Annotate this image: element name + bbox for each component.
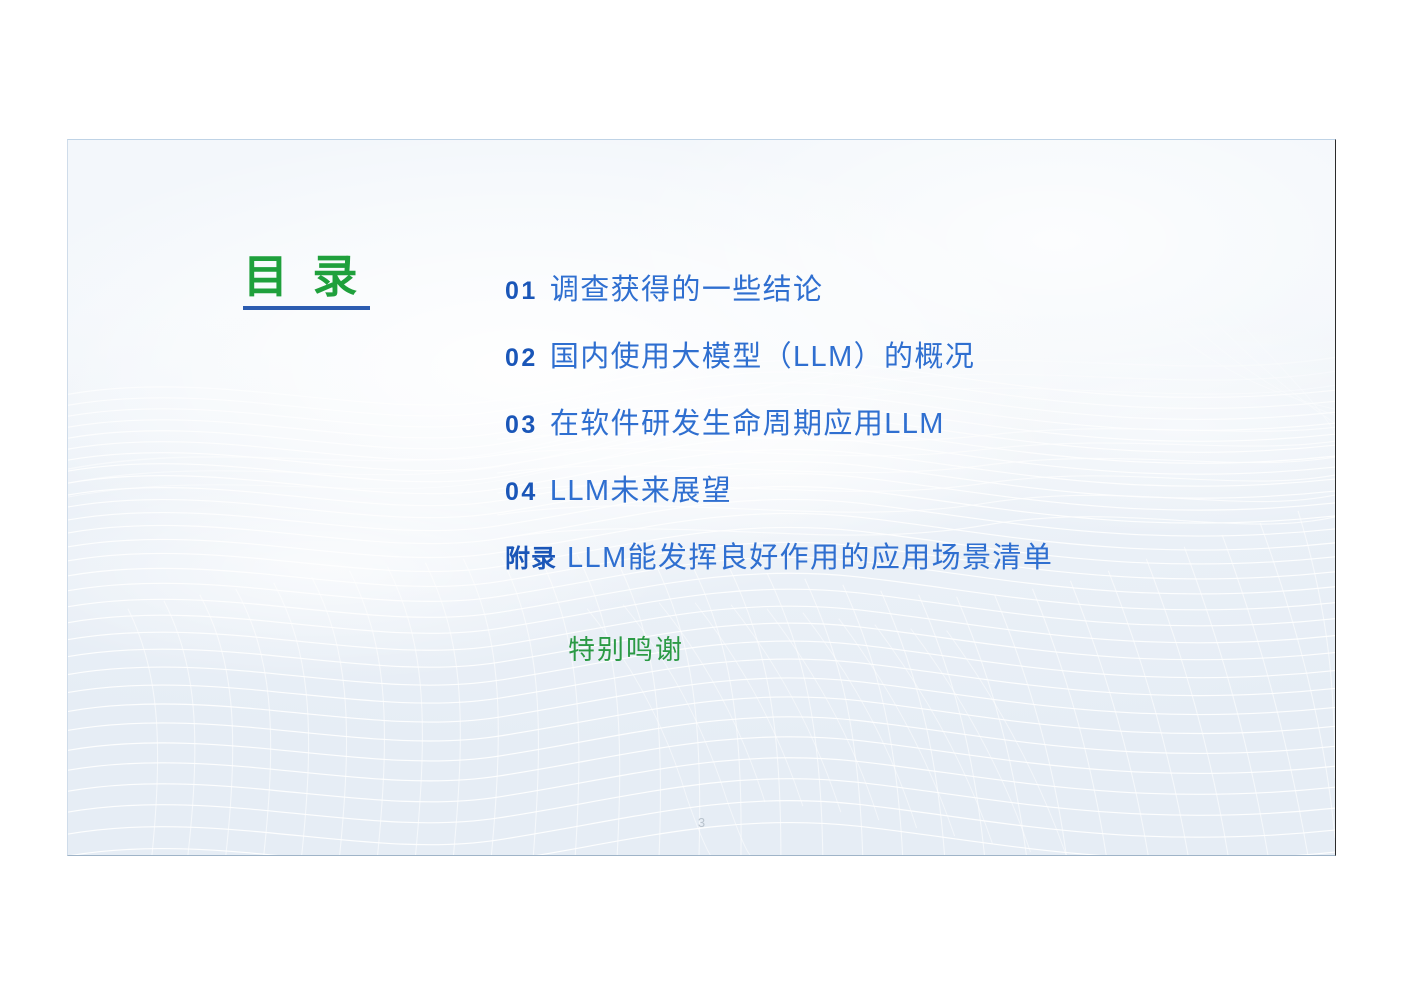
toc-item-label: LLM能发挥良好作用的应用场景清单 [567, 534, 1053, 576]
presentation-slide: 目 录 01 调查获得的一些结论 02 国内使用大模型（LLM）的概况 03 在… [67, 139, 1336, 856]
toc-item-04[interactable]: 04 LLM未来展望 [505, 467, 1265, 534]
toc-list: 01 调查获得的一些结论 02 国内使用大模型（LLM）的概况 03 在软件研发… [505, 266, 1265, 601]
slide-content: 目 录 01 调查获得的一些结论 02 国内使用大模型（LLM）的概况 03 在… [68, 140, 1335, 855]
toc-item-number: 03 [505, 411, 538, 440]
toc-item-label: 国内使用大模型（LLM）的概况 [550, 333, 975, 375]
toc-item-03[interactable]: 03 在软件研发生命周期应用LLM [505, 400, 1265, 467]
special-thanks-label[interactable]: 特别鸣谢 [568, 628, 684, 667]
toc-item-label: 调查获得的一些结论 [550, 266, 824, 308]
toc-item-number: 01 [505, 277, 538, 306]
toc-item-number: 04 [505, 478, 538, 507]
page-canvas: 目 录 01 调查获得的一些结论 02 国内使用大模型（LLM）的概况 03 在… [0, 0, 1403, 992]
page-title: 目 录 [243, 253, 378, 301]
toc-item-appendix[interactable]: 附录 LLM能发挥良好作用的应用场景清单 [505, 534, 1265, 601]
title-underline-rule [243, 306, 370, 310]
toc-item-label: 在软件研发生命周期应用LLM [550, 400, 945, 442]
toc-title-block: 目 录 [243, 253, 378, 310]
toc-item-label: LLM未来展望 [550, 467, 732, 509]
toc-item-number: 02 [505, 344, 538, 373]
toc-item-02[interactable]: 02 国内使用大模型（LLM）的概况 [505, 333, 1265, 400]
slide-page-number: 3 [68, 815, 1335, 830]
toc-item-01[interactable]: 01 调查获得的一些结论 [505, 266, 1265, 333]
toc-item-number: 附录 [505, 539, 557, 575]
